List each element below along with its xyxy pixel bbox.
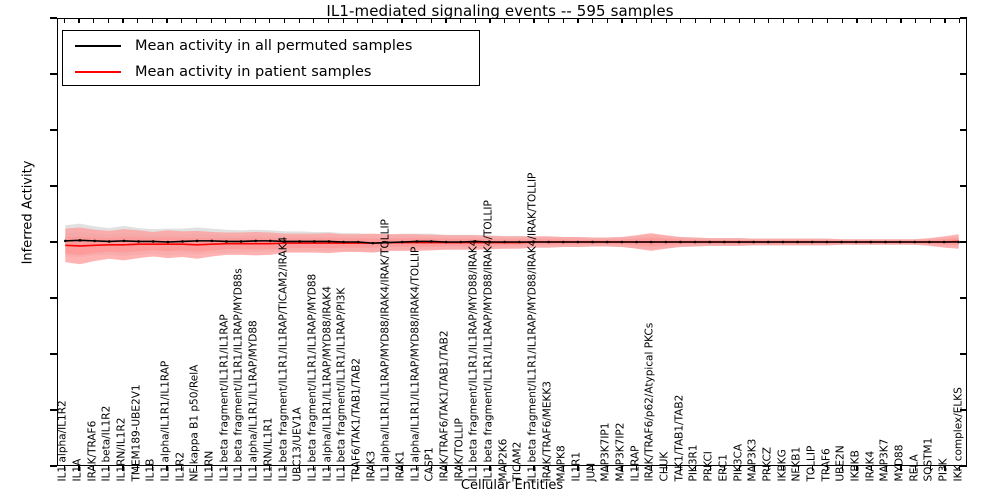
y-axis-label: Inferred Activity — [21, 13, 36, 413]
y-tick-mark — [50, 73, 57, 74]
permuted-mean-marker — [518, 241, 521, 244]
x-tick-mark — [328, 466, 329, 471]
x-tick-mark-top — [739, 18, 740, 23]
x-tick-mark — [768, 466, 769, 471]
x-tick-mark-top — [871, 18, 872, 23]
x-tick-mark-top — [533, 18, 534, 23]
permuted-mean-marker — [416, 240, 419, 243]
x-tick-mark — [108, 466, 109, 471]
x-tick-mark — [930, 466, 931, 471]
x-tick-label: TRAF6 — [821, 448, 832, 481]
x-tick-mark-top — [827, 18, 828, 23]
x-tick-mark-top — [548, 18, 549, 23]
x-tick-mark — [401, 466, 402, 471]
x-tick-mark — [152, 466, 153, 471]
x-tick-mark-top — [372, 18, 373, 23]
permuted-mean-marker — [313, 240, 316, 243]
permuted-mean-marker — [899, 241, 902, 244]
x-tick-mark — [754, 466, 755, 471]
x-tick-mark — [739, 466, 740, 471]
x-tick-label: IL1 beta fragment/IL1R1/IL1RAP/MYD88/IRA… — [469, 240, 480, 482]
x-tick-label: IL1 alpha/IL1R1/IL1RAP/MYD88/IRAK4 — [322, 286, 333, 481]
x-tick-mark — [64, 466, 65, 471]
x-tick-mark-top — [445, 18, 446, 23]
legend-entry-patient: Mean activity in patient samples — [63, 58, 479, 86]
permuted-mean-marker — [459, 241, 462, 244]
permuted-mean-marker — [93, 240, 96, 243]
permuted-mean-marker — [254, 240, 257, 243]
permuted-mean-marker — [167, 241, 170, 244]
permuted-mean-marker — [372, 242, 375, 245]
x-tick-label: NF kappa B1 p50/RelA — [190, 365, 201, 482]
permuted-mean-marker — [840, 241, 843, 244]
permuted-mean-marker — [708, 241, 711, 244]
x-tick-label: PIK3CA — [733, 444, 744, 482]
x-tick-mark-top — [401, 18, 402, 23]
x-tick-mark-top — [563, 18, 564, 23]
x-tick-mark — [871, 466, 872, 471]
figure: IL1-mediated signaling events -- 595 sam… — [0, 0, 1000, 500]
x-tick-label: IL1RAP — [630, 445, 641, 481]
x-tick-mark — [548, 466, 549, 471]
permuted-mean-marker — [152, 240, 155, 243]
x-tick-mark-top — [122, 18, 123, 23]
x-tick-mark — [93, 466, 94, 471]
legend-entry-permuted: Mean activity in all permuted samples — [63, 32, 479, 60]
y-tick-mark-right — [960, 465, 967, 466]
x-tick-mark — [387, 466, 388, 471]
x-tick-mark-top — [636, 18, 637, 23]
x-tick-mark-top — [343, 18, 344, 23]
legend: Mean activity in all permuted samples Me… — [62, 30, 480, 86]
permuted-mean-marker — [64, 240, 67, 243]
x-tick-mark — [798, 466, 799, 471]
x-tick-label: PRKCZ — [762, 447, 773, 481]
x-tick-mark-top — [431, 18, 432, 23]
permuted-mean-marker — [342, 241, 345, 244]
x-tick-mark — [607, 466, 608, 471]
x-tick-mark — [343, 466, 344, 471]
x-tick-mark — [886, 466, 887, 471]
x-tick-mark-top — [387, 18, 388, 23]
permuted-mean-marker — [196, 240, 199, 243]
y-tick-mark-right — [960, 17, 967, 18]
x-tick-label: TRAF6/TAK1/TAB1/TAB2 — [351, 358, 362, 481]
x-tick-mark — [416, 466, 417, 471]
x-tick-mark-top — [255, 18, 256, 23]
y-tick-mark-right — [960, 241, 967, 242]
x-tick-mark — [313, 466, 314, 471]
x-tick-mark — [137, 466, 138, 471]
permuted-mean-marker — [357, 241, 360, 244]
x-tick-mark-top — [269, 18, 270, 23]
x-tick-mark-top — [166, 18, 167, 23]
permuted-mean-marker — [679, 241, 682, 244]
permuted-mean-marker — [108, 240, 111, 243]
x-tick-mark — [357, 466, 358, 471]
x-tick-mark — [563, 466, 564, 471]
permuted-mean-marker — [503, 241, 506, 244]
x-tick-mark-top — [812, 18, 813, 23]
x-tick-mark — [636, 466, 637, 471]
x-tick-mark-top — [211, 18, 212, 23]
x-tick-mark — [504, 466, 505, 471]
x-tick-mark — [475, 466, 476, 471]
x-tick-mark-top — [666, 18, 667, 23]
permuted-mean-marker — [928, 241, 931, 244]
y-tick-mark — [50, 297, 57, 298]
legend-swatch-patient — [75, 71, 121, 73]
x-tick-label: IL1 beta fragment/IL1R1/IL1RAP — [219, 314, 230, 481]
x-tick-mark-top — [959, 18, 960, 23]
x-tick-label: IRAK/TRAF6/p62/Atypical PKCs — [645, 323, 656, 482]
x-tick-mark-top — [856, 18, 857, 23]
x-tick-mark-top — [680, 18, 681, 23]
x-tick-label: TOLLIP — [806, 446, 817, 482]
permuted-mean-marker — [870, 241, 873, 244]
x-tick-mark — [666, 466, 667, 471]
permuted-mean-marker — [913, 241, 916, 244]
permuted-mean-marker — [811, 241, 814, 244]
x-tick-label: IL1RN/IL1R1 — [263, 418, 274, 482]
x-tick-mark-top — [651, 18, 652, 23]
x-tick-mark-top — [313, 18, 314, 23]
x-tick-mark-top — [240, 18, 241, 23]
x-tick-mark — [577, 466, 578, 471]
permuted-mean-marker — [547, 241, 550, 244]
x-tick-mark — [621, 466, 622, 471]
x-tick-mark — [240, 466, 241, 471]
x-tick-mark — [915, 466, 916, 471]
permuted-mean-marker — [123, 240, 126, 243]
x-tick-mark-top — [621, 18, 622, 23]
x-tick-mark — [533, 466, 534, 471]
x-tick-mark-top — [768, 18, 769, 23]
x-tick-mark — [166, 466, 167, 471]
x-tick-mark — [900, 466, 901, 471]
x-tick-label: MYD88 — [894, 445, 905, 482]
x-tick-label: MAP3K7IP2 — [616, 423, 627, 482]
permuted-mean-marker — [694, 241, 697, 244]
x-tick-mark — [724, 466, 725, 471]
x-tick-mark — [856, 466, 857, 471]
permuted-mean-marker — [137, 240, 140, 243]
permuted-mean-marker — [577, 241, 580, 244]
x-tick-mark-top — [754, 18, 755, 23]
legend-label-patient: Mean activity in patient samples — [135, 62, 371, 82]
x-tick-label: PIK3R1 — [689, 445, 700, 482]
y-tick-mark — [50, 185, 57, 186]
permuted-mean-marker — [723, 241, 726, 244]
x-tick-mark — [944, 466, 945, 471]
y-tick-mark-right — [960, 73, 967, 74]
permuted-mean-marker — [884, 241, 887, 244]
x-tick-mark — [695, 466, 696, 471]
x-tick-label: MAP2K6 — [498, 439, 509, 482]
x-tick-mark-top — [783, 18, 784, 23]
permuted-mean-marker — [430, 240, 433, 243]
x-tick-mark-top — [108, 18, 109, 23]
x-tick-mark — [710, 466, 711, 471]
x-tick-label: IL1RN/IL1R2 — [117, 418, 128, 482]
permuted-mean-marker — [240, 240, 243, 243]
x-tick-mark-top — [328, 18, 329, 23]
y-tick-mark — [50, 17, 57, 18]
x-tick-mark — [489, 466, 490, 471]
x-tick-label: IL1 alpha/IL1R1/IL1RAP/MYD88 — [249, 320, 260, 481]
x-tick-mark — [827, 466, 828, 471]
x-tick-label: IRAK/TOLLIP — [454, 418, 465, 481]
x-tick-mark-top — [607, 18, 608, 23]
x-tick-mark — [842, 466, 843, 471]
permuted-mean-marker — [738, 241, 741, 244]
x-tick-mark-top — [460, 18, 461, 23]
x-tick-mark-top — [915, 18, 916, 23]
x-tick-mark — [196, 466, 197, 471]
x-tick-mark-top — [196, 18, 197, 23]
permuted-mean-marker — [752, 241, 755, 244]
permuted-mean-marker — [650, 241, 653, 244]
permuted-mean-marker — [767, 241, 770, 244]
x-tick-label: IL1 alpha/IL1R1/IL1RAP — [161, 361, 172, 482]
permuted-mean-marker — [225, 240, 228, 243]
x-tick-mark-top — [137, 18, 138, 23]
x-tick-mark — [181, 466, 182, 471]
x-tick-label: TICAM2 — [513, 442, 524, 482]
x-tick-label: MAPK8 — [557, 445, 568, 481]
x-tick-label: MAP3K7IP1 — [601, 423, 612, 482]
x-tick-label: IL1 beta fragment/IL1R1/IL1RAP/MYD88 — [307, 274, 318, 482]
x-tick-mark — [269, 466, 270, 471]
x-tick-mark — [225, 466, 226, 471]
permuted-mean-marker — [181, 240, 184, 243]
x-tick-label: MAP3K3 — [748, 439, 759, 482]
x-tick-label: IL1 alpha/IL1R1/IL1RAP/MYD88/IRAK4/IRAK/… — [381, 219, 392, 481]
x-tick-mark-top — [724, 18, 725, 23]
y-tick-mark — [50, 241, 57, 242]
x-tick-mark-top — [78, 18, 79, 23]
x-tick-mark — [122, 466, 123, 471]
y-tick-mark — [50, 129, 57, 130]
x-tick-label: UBE2N — [836, 445, 847, 481]
x-tick-mark-top — [64, 18, 65, 23]
permuted-mean-marker — [796, 241, 799, 244]
x-tick-label: IRAK/TRAF6 — [87, 421, 98, 482]
x-tick-mark-top — [475, 18, 476, 23]
x-tick-label: IL1 beta fragment/IL1R1/IL1RAP/PI3K — [337, 288, 348, 482]
legend-label-permuted: Mean activity in all permuted samples — [135, 36, 412, 56]
x-tick-label: IL1 alpha/IL1R1/IL1RAP/MYD88/IRAK4/TOLLI… — [410, 247, 421, 482]
permuted-mean-marker — [328, 240, 331, 243]
y-tick-mark — [50, 465, 57, 466]
x-tick-mark — [445, 466, 446, 471]
x-tick-mark-top — [592, 18, 593, 23]
permuted-mean-marker — [943, 241, 946, 244]
permuted-mean-marker — [855, 241, 858, 244]
permuted-mean-marker — [210, 240, 213, 243]
permuted-mean-marker — [269, 240, 272, 243]
permuted-mean-marker — [826, 241, 829, 244]
x-tick-mark-top — [695, 18, 696, 23]
x-tick-mark-top — [900, 18, 901, 23]
permuted-mean-marker — [445, 241, 448, 244]
permuted-mean-marker — [664, 241, 667, 244]
permuted-mean-marker — [782, 241, 785, 244]
x-tick-mark-top — [886, 18, 887, 23]
x-tick-mark — [299, 466, 300, 471]
permuted-mean-marker — [401, 241, 404, 244]
y-tick-mark — [50, 409, 57, 410]
x-tick-mark-top — [416, 18, 417, 23]
x-tick-mark — [284, 466, 285, 471]
permuted-mean-marker — [298, 240, 301, 243]
x-tick-mark — [783, 466, 784, 471]
x-tick-label: IL1 beta fragment/IL1R1/IL1RAP/TICAM2/IR… — [278, 237, 289, 482]
permuted-mean-marker — [562, 241, 565, 244]
permuted-mean-marker — [606, 241, 609, 244]
y-tick-mark-right — [960, 297, 967, 298]
x-tick-label: SQSTM1 — [924, 438, 935, 482]
x-tick-mark — [460, 466, 461, 471]
y-tick-mark-right — [960, 353, 967, 354]
permuted-mean-marker — [79, 239, 82, 242]
x-tick-mark-top — [944, 18, 945, 23]
x-tick-mark — [431, 466, 432, 471]
x-tick-label: CASP1 — [425, 447, 436, 481]
permuted-mean-marker — [635, 241, 638, 244]
x-tick-mark-top — [181, 18, 182, 23]
x-tick-mark — [592, 466, 593, 471]
x-tick-mark — [651, 466, 652, 471]
x-tick-mark-top — [519, 18, 520, 23]
x-tick-label: IL1 beta fragment/IL1R1/IL1RAP/MYD88s — [234, 268, 245, 481]
x-tick-mark — [812, 466, 813, 471]
x-tick-mark-top — [357, 18, 358, 23]
x-tick-mark — [255, 466, 256, 471]
x-tick-mark — [519, 466, 520, 471]
x-tick-mark-top — [710, 18, 711, 23]
x-tick-mark-top — [930, 18, 931, 23]
x-tick-mark — [211, 466, 212, 471]
y-tick-mark-right — [960, 129, 967, 130]
x-tick-label: IL1 beta fragment/IL1R1/IL1RAP/MYD88/IRA… — [528, 173, 539, 482]
x-tick-mark-top — [489, 18, 490, 23]
x-tick-mark-top — [504, 18, 505, 23]
x-tick-label: IRAK/TRAF6/TAK1/TAB1/TAB2 — [439, 330, 450, 481]
y-tick-mark-right — [960, 409, 967, 410]
permuted-mean-marker — [591, 241, 594, 244]
permuted-mean-marker — [621, 241, 624, 244]
x-tick-mark — [78, 466, 79, 471]
x-tick-mark — [959, 466, 960, 471]
x-tick-mark — [680, 466, 681, 471]
x-tick-mark-top — [284, 18, 285, 23]
x-tick-mark-top — [93, 18, 94, 23]
x-tick-mark-top — [152, 18, 153, 23]
y-tick-mark — [50, 353, 57, 354]
x-tick-label: IL1 beta fragment/IL1R1/IL1RAP/MYD88/IRA… — [483, 200, 494, 481]
x-tick-mark-top — [798, 18, 799, 23]
legend-swatch-permuted — [75, 45, 121, 47]
x-tick-mark-top — [842, 18, 843, 23]
x-tick-label: NFKB1 — [792, 447, 803, 482]
x-tick-mark-top — [225, 18, 226, 23]
x-tick-mark-top — [299, 18, 300, 23]
x-tick-mark — [372, 466, 373, 471]
x-tick-mark-top — [577, 18, 578, 23]
y-tick-mark-right — [960, 185, 967, 186]
x-tick-label: MAP3K7 — [880, 439, 891, 482]
